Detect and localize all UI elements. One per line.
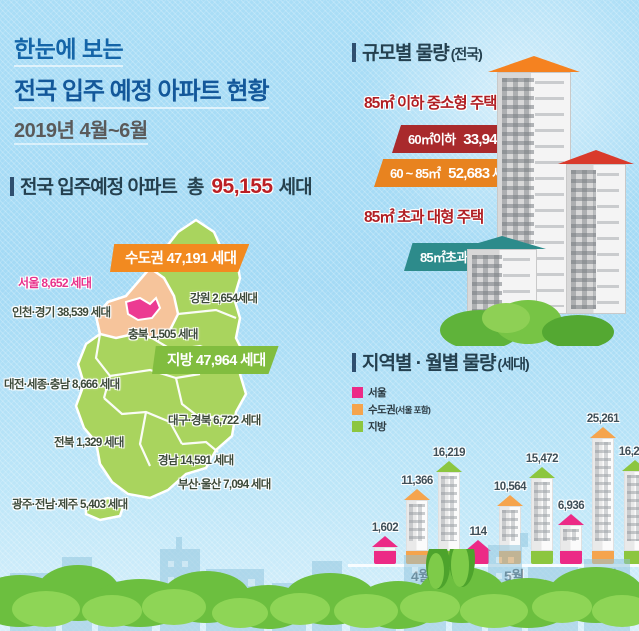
legend-item-seoul[interactable]: 서울	[352, 385, 637, 400]
bar-value-june-seoul: 6,936	[558, 500, 584, 512]
ribbon-province[interactable]: 지방 47,964 세대	[152, 346, 279, 374]
map-label-chungbuk: 충북 1,505 세대	[128, 326, 198, 342]
bar-value-april-capital: 11,366	[401, 475, 433, 487]
size-heading-text: 규모별 물량	[362, 38, 449, 65]
bar-value-june-capital: 25,261	[587, 413, 619, 425]
chart-section-heading: 지역별 · 월별 물량 (세대)	[352, 348, 637, 375]
map-label-daejeon-sejong-chungnam: 대전·세종·충남 8,666 세대	[4, 376, 120, 392]
legend-swatch-capital	[352, 404, 363, 415]
bar-roof-icon	[436, 461, 462, 472]
map-total-label: 총	[187, 172, 203, 199]
bar-roof-icon	[404, 489, 430, 500]
chart-heading-text: 지역별 · 월별 물량	[362, 348, 496, 375]
map-heading-text: 전국 입주예정 아파트	[20, 172, 177, 199]
tag-60-85-label: 60 ~ 85㎡	[390, 166, 440, 181]
tower-orange-roof-icon	[488, 56, 580, 72]
title-line-2: 전국 입주 예정 아파트 현황	[14, 71, 269, 109]
bar-value-june-province: 16,273	[619, 446, 639, 458]
title-line-3: 2019년 4월~6월	[14, 114, 148, 145]
apartment-towers-illustration	[440, 48, 639, 333]
heading-marker-icon	[10, 177, 14, 196]
legend-label-seoul: 서울	[368, 385, 386, 400]
bar-value-may-province: 15,472	[526, 453, 558, 465]
map-label-gwangju-jeonnam-jeju: 광주·전남·제주 5,403 세대	[12, 496, 128, 512]
bar-roof-icon	[497, 495, 523, 506]
bar-roof-icon	[622, 460, 639, 471]
tower-bushes	[440, 296, 639, 346]
map-label-gangwon: 강원 2,654세대	[190, 290, 257, 306]
page-title: 한눈에 보는 전국 입주 예정 아파트 현황 2019년 4월~6월	[14, 30, 334, 145]
map-label-jeonbuk: 전북 1,329 세대	[54, 434, 124, 450]
map-total-unit: 세대	[279, 172, 312, 199]
bar-value-april-province: 16,219	[433, 447, 465, 459]
heading-marker-icon	[352, 353, 356, 372]
ribbon-capital[interactable]: 수도권 47,191 세대	[110, 244, 249, 272]
map-label-incheon-gyeonggi: 인천·경기 38,539 세대	[12, 304, 110, 320]
korea-map: 서울 8,652 세대 인천·경기 38,539 세대 강원 2,654세대 충…	[0, 198, 340, 538]
bar-roof-icon	[590, 427, 616, 438]
map-label-seoul: 서울 8,652 세대	[18, 274, 91, 291]
bar-roof-icon	[529, 467, 555, 478]
legend-swatch-province	[352, 421, 363, 432]
map-label-daegu-gyeongbuk: 대구·경북 6,722 세대	[168, 412, 261, 428]
tower-red	[558, 150, 634, 314]
tree-foliage-decor	[0, 549, 639, 631]
map-label-gyeongnam: 경남 14,591 세대	[158, 452, 233, 468]
map-label-busan-ulsan: 부산·울산 7,094 세대	[178, 476, 271, 492]
tower-red-body	[566, 164, 626, 314]
legend-swatch-seoul	[352, 387, 363, 398]
chart-heading-sub: (세대)	[498, 354, 529, 374]
bar-value-may-capital: 10,564	[494, 481, 526, 493]
heading-marker-icon	[352, 43, 356, 62]
map-section-heading: 전국 입주예정 아파트 총 95,155 세대	[10, 172, 340, 199]
tower-teal-roof-icon	[458, 236, 546, 249]
tower-red-roof-icon	[558, 150, 634, 164]
map-section: 전국 입주예정 아파트 총 95,155 세대	[10, 172, 340, 199]
title-line-1: 한눈에 보는	[14, 30, 123, 67]
map-total-value: 95,155	[211, 175, 272, 199]
